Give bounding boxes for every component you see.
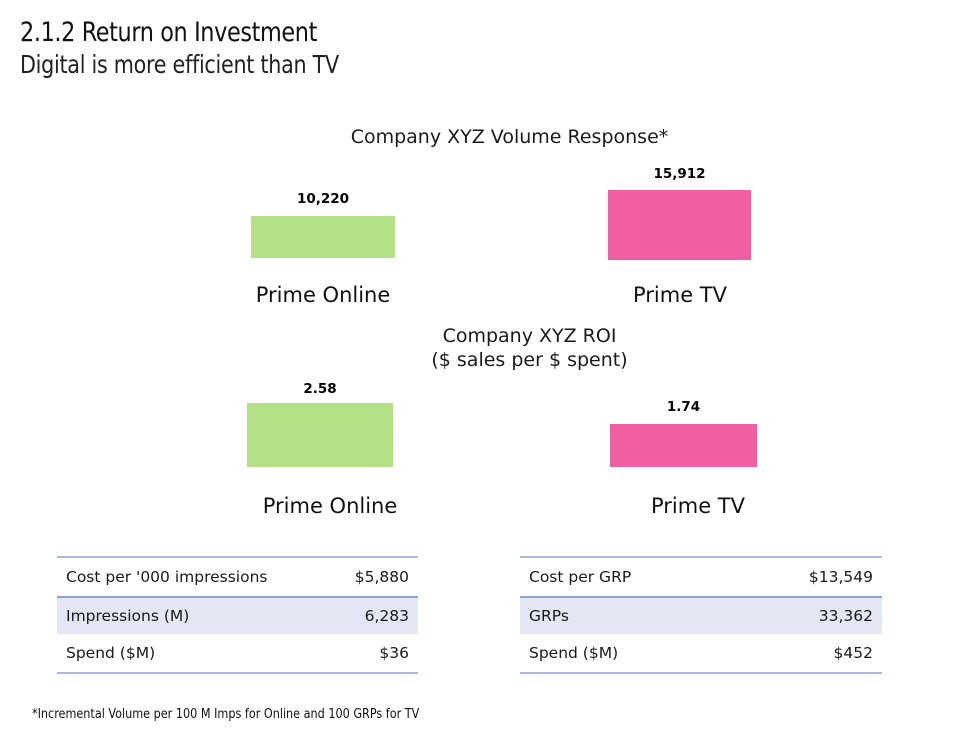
table-cell-label: Cost per GRP — [529, 568, 809, 586]
table-cell-value: 33,362 — [819, 607, 873, 625]
bar-value-prime-tv-volume: 15,912 — [608, 166, 751, 182]
bar-prime-online-volume — [251, 216, 395, 258]
table-cell-label: Impressions (M) — [66, 607, 365, 625]
table-online-metrics: Cost per '000 impressions $5,880 Impress… — [57, 556, 418, 674]
table-row: Impressions (M) 6,283 — [57, 596, 418, 634]
table-cell-label: Cost per '000 impressions — [66, 568, 355, 586]
table-row: Spend ($M) $36 — [57, 634, 418, 672]
page-subtitle: Digital is more efficient than TV — [20, 50, 339, 80]
chart-roi-subtitle: ($ sales per $ spent) — [80, 348, 979, 372]
table-row: GRPs 33,362 — [520, 596, 882, 634]
bar-prime-tv-volume — [608, 190, 751, 260]
bar-value-prime-online-volume: 10,220 — [251, 191, 395, 207]
chart-roi-title: Company XYZ ROI — [80, 324, 979, 348]
bar-prime-online-roi — [247, 403, 393, 467]
table-cell-label: GRPs — [529, 607, 819, 625]
table-cell-label: Spend ($M) — [66, 644, 379, 662]
table-tv-metrics: Cost per GRP $13,549 GRPs 33,362 Spend (… — [520, 556, 882, 674]
table-row: Cost per '000 impressions $5,880 — [57, 558, 418, 596]
slide-canvas: 2.1.2 Return on Investment Digital is mo… — [0, 0, 979, 734]
table-cell-value: $5,880 — [355, 568, 409, 586]
chart-volume-title: Company XYZ Volume Response* — [0, 125, 979, 149]
table-row: Spend ($M) $452 — [520, 634, 882, 672]
bar-value-prime-tv-roi: 1.74 — [610, 399, 757, 415]
category-label-prime-tv-roi: Prime TV — [610, 494, 786, 518]
chart-roi-title-block: Company XYZ ROI ($ sales per $ spent) — [0, 324, 979, 372]
title-block: 2.1.2 Return on Investment Digital is mo… — [20, 18, 367, 80]
table-cell-value: $452 — [834, 644, 873, 662]
table-row: Cost per GRP $13,549 — [520, 558, 882, 596]
table-cell-value: $36 — [379, 644, 409, 662]
table-cell-value: 6,283 — [365, 607, 409, 625]
category-label-prime-online-volume: Prime Online — [215, 283, 431, 307]
category-label-prime-tv-volume: Prime TV — [592, 283, 768, 307]
table-cell-value: $13,549 — [809, 568, 873, 586]
page-title: 2.1.2 Return on Investment — [20, 18, 339, 48]
footnote: *Incremental Volume per 100 M Imps for O… — [32, 707, 419, 722]
category-label-prime-online-roi: Prime Online — [222, 494, 438, 518]
bar-prime-tv-roi — [610, 424, 757, 467]
bar-value-prime-online-roi: 2.58 — [247, 381, 393, 397]
table-cell-label: Spend ($M) — [529, 644, 834, 662]
